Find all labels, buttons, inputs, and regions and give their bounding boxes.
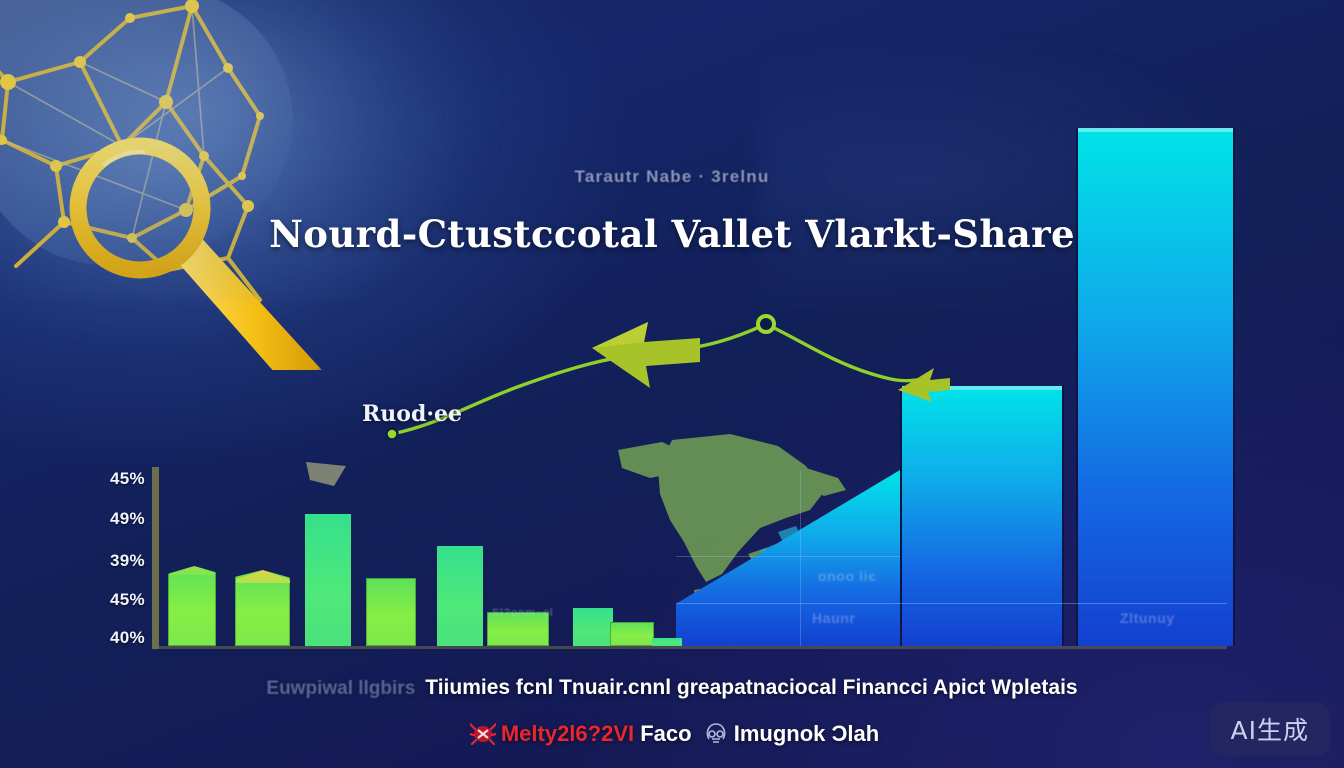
caption-main-text: Tiiumies fcnl Tnuair.cnnl greapatnacioca… bbox=[425, 676, 1077, 699]
poster-subtitle: Tarautr Nabe · 3relnu bbox=[0, 167, 1344, 187]
redline-end-text: Imugnok Ɔlah bbox=[734, 721, 879, 746]
poster-redline: Melty2l6?2VI Faco Imugnok Ɔlah bbox=[0, 721, 1344, 747]
redline-red-text: Melty2l6?2VI bbox=[501, 721, 634, 746]
bulb-sketch-icon bbox=[703, 721, 729, 745]
redline-mid-text: Faco bbox=[640, 721, 691, 746]
arrow-small-icon bbox=[898, 368, 950, 402]
spider-icon bbox=[470, 721, 496, 745]
poster-title: Nourd-Ctustccotal Vallet Vlarkt-Share bbox=[0, 212, 1344, 256]
line-node-label: Ruod·ee bbox=[362, 401, 462, 427]
poster-canvas: 45% 49% 39% 45% 40% onoo liє Haunr Zltun… bbox=[0, 0, 1344, 768]
caption-ghost-text: Euwpiwal llgbirs bbox=[266, 678, 415, 699]
line-marker-start bbox=[387, 429, 398, 440]
poster-caption: Euwpiwal llgbirsTiiumies fcnl Tnuair.cnn… bbox=[0, 676, 1344, 700]
line-marker-peak bbox=[758, 316, 774, 332]
trend-line-overlay bbox=[0, 0, 1344, 768]
magnifier-shadow-marker bbox=[306, 462, 346, 486]
ai-generated-watermark: AI生成 bbox=[1210, 702, 1330, 756]
arrow-right-icon bbox=[592, 322, 700, 388]
chart-area: 45% 49% 39% 45% 40% onoo liє Haunr Zltun… bbox=[0, 0, 1344, 768]
